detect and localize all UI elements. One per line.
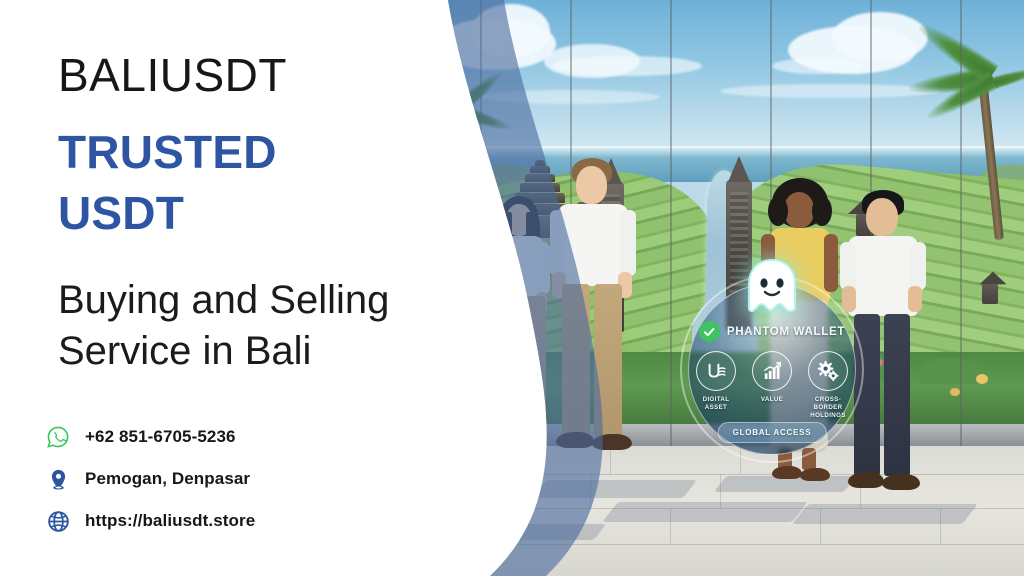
location-pin-icon: [45, 466, 71, 492]
badge-feature-row: DIGITAL ASSET VALUE: [688, 351, 856, 419]
flower: [460, 374, 469, 381]
pavement: [420, 446, 1024, 576]
headline-line-1: TRUSTED: [58, 122, 277, 183]
flower: [976, 374, 988, 384]
contact-list: +62 851-6705-5236 Pemogan, Denpasar: [45, 424, 255, 534]
contact-whatsapp-text: +62 851-6705-5236: [85, 427, 236, 447]
shrine-roof: [979, 272, 1006, 285]
headline: TRUSTED USDT: [58, 122, 277, 243]
global-access-pill[interactable]: GLOBAL ACCESS: [718, 422, 827, 443]
grass-tuft: [494, 360, 540, 382]
contact-location-text: Pemogan, Denpasar: [85, 469, 250, 489]
contact-row-whatsapp[interactable]: +62 851-6705-5236: [45, 424, 255, 450]
usdt-token-icon: [696, 351, 736, 391]
feature-label: VALUE: [749, 396, 795, 404]
brand-name: BALIUSDT: [58, 52, 287, 98]
grass-tuft: [920, 358, 980, 384]
chart-growth-icon: [752, 351, 792, 391]
badge-title-row: PHANTOM WALLET: [688, 321, 856, 342]
check-circle-icon: [699, 321, 720, 342]
gears-icon: [808, 351, 848, 391]
globe-icon: [45, 508, 71, 534]
contact-website-text: https://baliusdt.store: [85, 511, 255, 531]
headline-line-2: USDT: [58, 183, 277, 244]
subheadline-line-1: Buying and Selling: [58, 275, 389, 326]
cloud: [552, 56, 702, 76]
feature-value[interactable]: VALUE: [749, 351, 795, 419]
badge-title: PHANTOM WALLET: [727, 326, 845, 338]
subheadline: Buying and Selling Service in Bali: [58, 275, 389, 377]
flower: [950, 388, 960, 396]
phantom-ghost-icon: [744, 257, 800, 315]
promo-banner: PHANTOM WALLET DIGITAL ASSET: [0, 0, 1024, 576]
contact-row-location[interactable]: Pemogan, Denpasar: [45, 466, 255, 492]
person-woman-left: [482, 196, 556, 496]
shrine: [982, 284, 998, 304]
cloud: [832, 12, 928, 62]
feature-cross-border[interactable]: CROSS-BORDER HOLDINGS: [805, 351, 851, 419]
feature-label: CROSS-BORDER HOLDINGS: [805, 396, 851, 419]
contact-row-website[interactable]: https://baliusdt.store: [45, 508, 255, 534]
cloud: [472, 4, 550, 58]
text-panel: BALIUSDT TRUSTED USDT Buying and Selling…: [0, 0, 460, 576]
feature-digital-asset[interactable]: DIGITAL ASSET: [693, 351, 739, 419]
subheadline-line-2: Service in Bali: [58, 326, 389, 377]
feature-label: DIGITAL ASSET: [693, 396, 739, 412]
person-man-left: [548, 158, 640, 498]
cloud: [720, 84, 940, 98]
phantom-wallet-badge[interactable]: PHANTOM WALLET DIGITAL ASSET: [688, 283, 856, 455]
whatsapp-icon: [45, 424, 71, 450]
gate-finial: [728, 156, 750, 182]
